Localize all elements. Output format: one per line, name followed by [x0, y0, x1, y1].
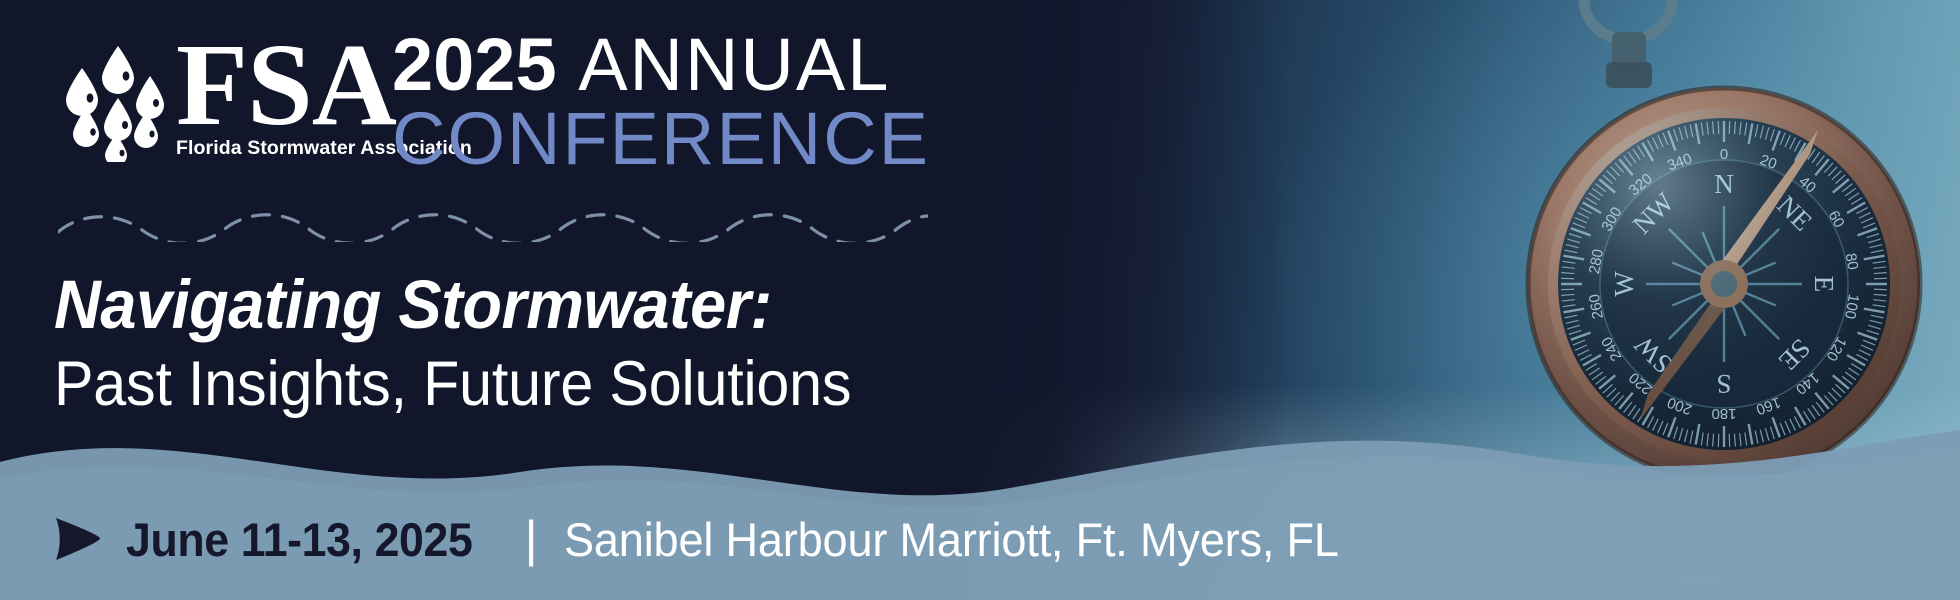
conference-title: 2025 ANNUAL CONFERENCE — [392, 24, 932, 178]
conference-year: 2025 — [392, 23, 557, 106]
conference-banner: 0204060801001201401601802002202402602803… — [0, 0, 1960, 600]
compass-loop — [1584, 0, 1672, 88]
banner-content: FSA Florida Stormwater Association 2025 … — [0, 0, 1000, 600]
raindrops-icon — [60, 42, 168, 162]
headline-line1: Navigating Stormwater: — [54, 268, 900, 342]
headline-line2: Past Insights, Future Solutions — [54, 348, 900, 420]
compass-icon: 0204060801001201401601802002202402602803… — [1488, 0, 1958, 474]
event-info-bar: June 11-13, 2025 | Sanibel Harbour Marri… — [0, 478, 1500, 600]
event-date: June 11-13, 2025 — [126, 512, 472, 567]
headline: Navigating Stormwater: Past Insights, Fu… — [54, 268, 954, 420]
play-arrow-icon — [52, 515, 104, 563]
dashed-wave-divider — [58, 208, 928, 242]
event-venue: Sanibel Harbour Marriott, Ft. Myers, FL — [564, 512, 1339, 567]
info-separator: | — [525, 514, 538, 564]
conference-word: CONFERENCE — [392, 100, 932, 178]
conference-annual: ANNUAL — [578, 23, 890, 106]
conference-title-line1: 2025 ANNUAL — [392, 24, 932, 106]
